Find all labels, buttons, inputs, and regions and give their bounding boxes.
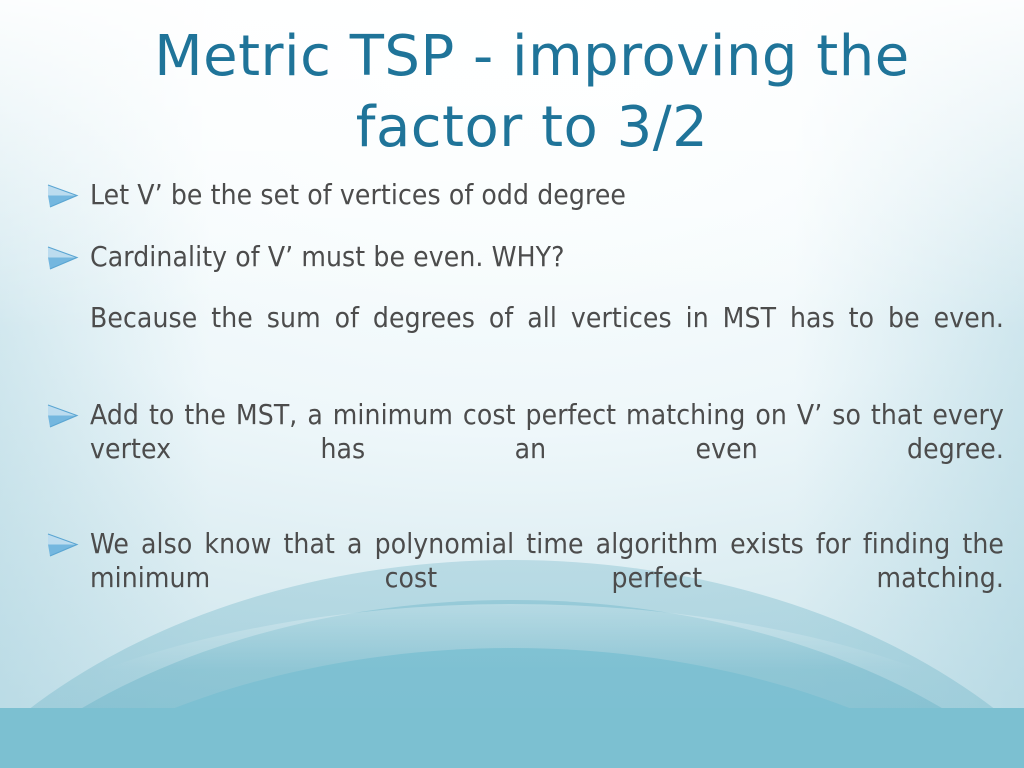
bullet-item: Let V’ be the set of vertices of odd deg…: [44, 178, 1004, 212]
bullet-item-text: Add to the MST, a minimum cost perfect m…: [90, 398, 1004, 465]
slide-title-line-1: Metric TSP - improving the: [112, 22, 952, 93]
arrowhead-bullet-icon: [46, 531, 80, 559]
bullet-item: Cardinality of V’ must be even. WHY?: [44, 240, 1004, 274]
paragraph-item-text: Because the sum of degrees of all vertic…: [90, 301, 1004, 334]
arrowhead-bullet-icon: [46, 402, 80, 430]
slide-body: Let V’ be the set of vertices of odd deg…: [44, 178, 1004, 628]
slide-title-line-2: factor to 3/2: [112, 93, 952, 164]
slide-content: Metric TSP - improving the factor to 3/2…: [0, 0, 1024, 768]
arrowhead-bullet-icon: [46, 182, 80, 210]
paragraph-item: Because the sum of degrees of all vertic…: [44, 301, 1004, 368]
bullet-item-text: Cardinality of V’ must be even. WHY?: [90, 240, 565, 273]
bullet-item-text: Let V’ be the set of vertices of odd deg…: [90, 178, 626, 211]
bullet-item-text: We also know that a polynomial time algo…: [90, 527, 1004, 594]
slide-title: Metric TSP - improving the factor to 3/2: [112, 22, 952, 163]
bullet-item: Add to the MST, a minimum cost perfect m…: [44, 398, 1004, 499]
slide-canvas: Metric TSP - improving the factor to 3/2…: [0, 0, 1024, 768]
arrowhead-bullet-icon: [46, 244, 80, 272]
bullet-item: We also know that a polynomial time algo…: [44, 527, 1004, 628]
